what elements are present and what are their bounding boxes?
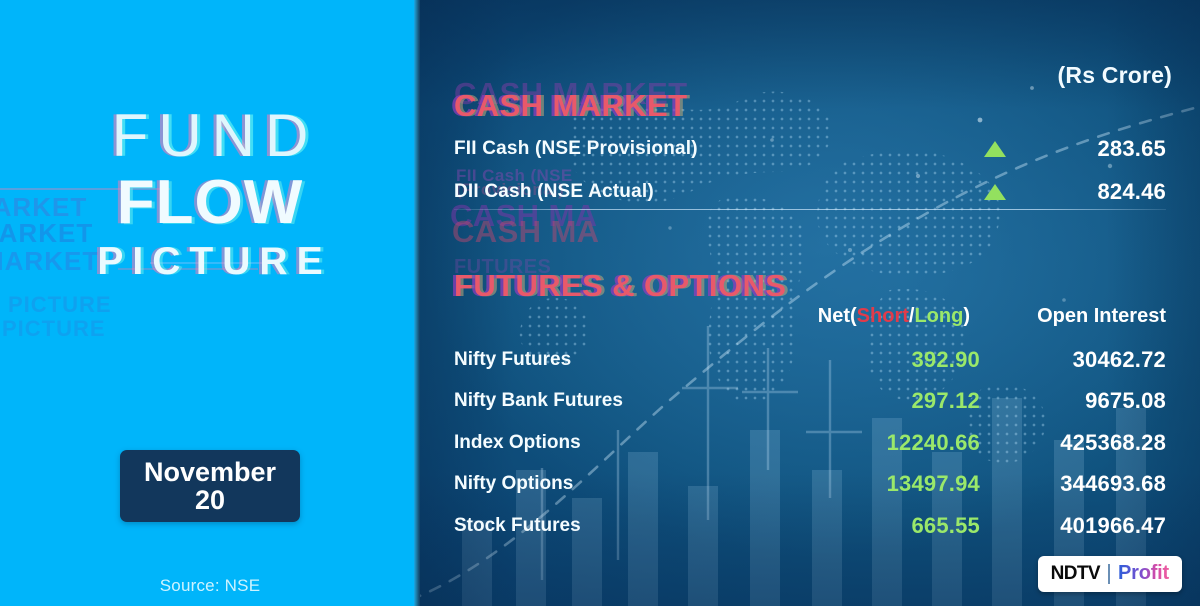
ndtv-profit-logo: NDTV Profit xyxy=(1038,556,1182,592)
date-month: November xyxy=(144,458,276,486)
net-suffix: ) xyxy=(963,305,970,327)
row-label: Index Options xyxy=(454,432,581,454)
table-row-dii-cash: DII Cash (NSE Actual) 824.46 xyxy=(454,175,1166,209)
row-open-interest: 9675.08 xyxy=(1002,388,1166,414)
glitch-ghost-text: PICTURE xyxy=(8,292,112,318)
table-row-nifty-futures: Nifty Futures 392.90 30462.72 xyxy=(454,345,1166,375)
arrow-up-icon xyxy=(984,141,1006,157)
brand-title: FUND FLOW PICTURE xyxy=(0,106,420,284)
row-label: Nifty Bank Futures xyxy=(454,390,623,412)
fund-flow-picture-graphic: MARKET MARKET MARKET PICTURE PICTURE FUN… xyxy=(0,0,1200,606)
brand-panel: MARKET MARKET MARKET PICTURE PICTURE FUN… xyxy=(0,0,420,606)
row-net-value: 392.90 xyxy=(830,347,980,373)
table-row-fii-cash: FII Cash (NSE Provisional) 283.65 xyxy=(454,132,1166,166)
column-header-open-interest: Open Interest xyxy=(1037,305,1166,328)
row-net-value: 13497.94 xyxy=(830,471,980,497)
section-heading-cash-market: CASH MARKET xyxy=(454,88,687,124)
net-long-label: Long xyxy=(914,305,963,327)
row-net-value: 12240.66 xyxy=(830,430,980,456)
arrow-up-icon xyxy=(984,184,1006,200)
row-open-interest: 30462.72 xyxy=(1002,347,1166,373)
brand-title-line-fund: FUND xyxy=(0,106,420,166)
column-header-net: Net(Short/Long) xyxy=(818,305,970,328)
table-row-index-options: Index Options 12240.66 425368.28 xyxy=(454,428,1166,458)
row-open-interest: 425368.28 xyxy=(1002,430,1166,456)
date-badge: November 20 xyxy=(120,450,300,522)
row-label: Nifty Futures xyxy=(454,349,571,371)
table-row-stock-futures: Stock Futures 665.55 401966.47 xyxy=(454,511,1166,541)
brand-title-line-picture: PICTURE xyxy=(0,241,420,284)
logo-profit-text: Profit xyxy=(1118,562,1169,585)
logo-divider xyxy=(1108,564,1110,584)
logo-ndtv-text: NDTV xyxy=(1051,563,1100,585)
data-panel: (Rs Crore) CASH MARKET FII Cash (NSE (Pr… xyxy=(420,0,1200,606)
section-divider xyxy=(454,209,1166,210)
row-label: DII Cash (NSE Actual) xyxy=(454,181,654,203)
row-open-interest: 401966.47 xyxy=(1002,513,1166,539)
date-day: 20 xyxy=(195,486,225,514)
net-prefix: Net( xyxy=(818,305,857,327)
row-net-value: 665.55 xyxy=(830,513,980,539)
units-label: (Rs Crore) xyxy=(1058,62,1172,89)
row-label: Nifty Options xyxy=(454,473,573,495)
row-value: 283.65 xyxy=(1050,136,1166,162)
table-row-nifty-bank-futures: Nifty Bank Futures 297.12 9675.08 xyxy=(454,386,1166,416)
glitch-ghost-text: PICTURE xyxy=(2,316,106,342)
row-net-value: 297.12 xyxy=(830,388,980,414)
row-open-interest: 344693.68 xyxy=(1002,471,1166,497)
net-short-label: Short xyxy=(857,305,909,327)
source-label: Source: NSE xyxy=(0,576,420,596)
brand-title-line-flow: FLOW xyxy=(0,170,420,235)
row-label: FII Cash (NSE Provisional) xyxy=(454,138,698,160)
table-row-nifty-options: Nifty Options 13497.94 344693.68 xyxy=(454,469,1166,499)
row-value: 824.46 xyxy=(1050,179,1166,205)
column-headers: Net(Short/Long) Open Interest xyxy=(454,305,1166,331)
row-label: Stock Futures xyxy=(454,515,581,537)
section-heading-futures-options: FUTURES & OPTIONS xyxy=(454,268,786,304)
